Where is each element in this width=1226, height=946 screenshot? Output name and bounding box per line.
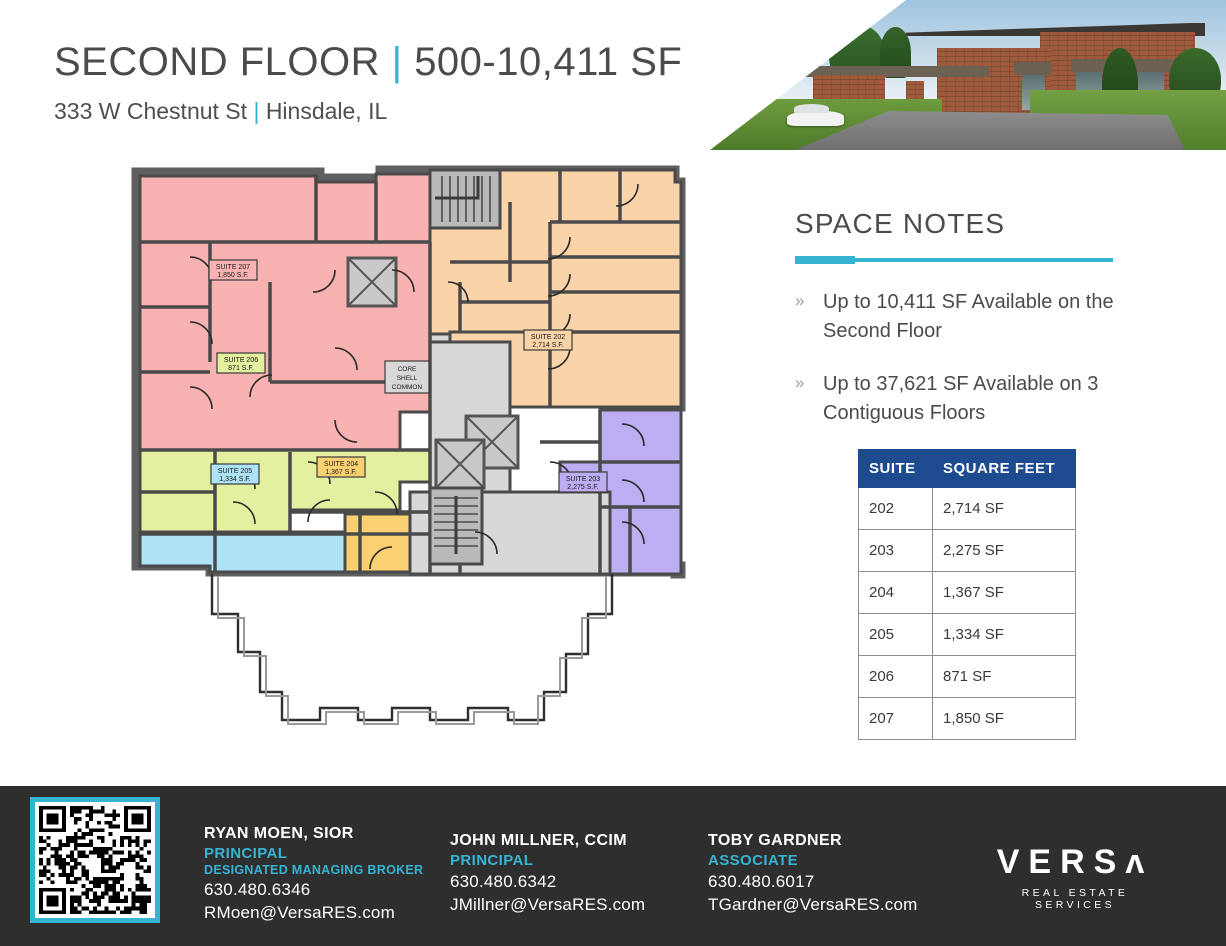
logo-tagline: REAL ESTATE SERVICES	[985, 887, 1165, 911]
contact-ryan-moen: RYAN MOEN, SIOR PRINCIPAL DESIGNATED MAN…	[204, 825, 423, 923]
space-note-text: Up to 37,621 SF Available on 3 Contiguou…	[823, 370, 1125, 428]
space-notes-section: SPACE NOTES » Up to 10,411 SF Available …	[795, 208, 1125, 428]
address-city-state: Hinsdale, IL	[266, 98, 387, 124]
space-notes-title: SPACE NOTES	[795, 208, 1125, 240]
floor-plan-drawing: SUITE 2071,850 S.F.SUITE 2022,714 S.F.SU…	[130, 162, 690, 742]
suite-label-area: 2,714 S.F.	[532, 342, 564, 349]
suite-label-name: SUITE 205	[218, 468, 252, 475]
cell-suite: 202	[859, 488, 933, 530]
suite-label-area: 2,275 S.F.	[567, 484, 599, 491]
cell-suite: 204	[859, 572, 933, 614]
title-floor: SECOND FLOOR	[54, 40, 380, 84]
space-note-item: » Up to 37,621 SF Available on 3 Contigu…	[795, 370, 1125, 428]
contact-email[interactable]: TGardner@VersaRES.com	[708, 895, 917, 915]
address-divider: |	[253, 98, 259, 124]
contact-role: PRINCIPAL	[204, 845, 423, 862]
stairwell-lower	[430, 488, 482, 564]
core-label-line: SHELL	[397, 375, 418, 382]
contact-name: TOBY GARDNER	[708, 832, 917, 850]
qr-code-image	[39, 806, 151, 914]
lower-floor-outline	[212, 574, 612, 724]
suite-table: SUITE SQUARE FEET 2022,714 SF2032,275 SF…	[858, 449, 1076, 740]
contact-phone[interactable]: 630.480.6342	[450, 872, 645, 892]
cell-square-feet: 871 SF	[933, 656, 1076, 698]
qr-code[interactable]	[30, 797, 160, 923]
header-block: SECOND FLOOR | 500-10,411 SF 333 W Chest…	[54, 40, 682, 125]
contact-role: ASSOCIATE	[708, 852, 917, 869]
suite-label-name: SUITE 203	[566, 476, 600, 483]
versa-logo: VERSʌ REAL ESTATE SERVICES	[985, 845, 1165, 911]
suite-label-name: SUITE 204	[324, 461, 358, 468]
stairwell-upper	[430, 170, 500, 228]
suite-label-area: 871 S.F.	[228, 365, 254, 372]
suite-table-body: 2022,714 SF2032,275 SF2041,367 SF2051,33…	[859, 488, 1076, 740]
suite-label-area: 1,850 S.F.	[217, 272, 249, 279]
contact-john-millner: JOHN MILLNER, CCIM PRINCIPAL 630.480.634…	[450, 832, 645, 915]
suite-label-name: SUITE 206	[224, 357, 258, 364]
suite-label-name: SUITE 202	[531, 334, 565, 341]
window-awning	[1014, 62, 1050, 76]
cell-suite: 205	[859, 614, 933, 656]
building-photo	[710, 0, 1226, 150]
table-row: 2022,714 SF	[859, 488, 1076, 530]
contact-role: PRINCIPAL	[450, 852, 645, 869]
column-header-suite: SUITE	[859, 450, 933, 488]
space-note-item: » Up to 10,411 SF Available on the Secon…	[795, 288, 1125, 346]
bullet-glyph: »	[795, 370, 823, 428]
suite-label-area: 1,334 S.F.	[219, 476, 251, 483]
cell-square-feet: 2,275 SF	[933, 530, 1076, 572]
cell-square-feet: 1,850 SF	[933, 698, 1076, 740]
table-row: 206871 SF	[859, 656, 1076, 698]
core-label-line: COMMON	[392, 384, 423, 391]
accent-rule	[795, 256, 1113, 264]
cell-suite: 206	[859, 656, 933, 698]
contact-phone[interactable]: 630.480.6346	[204, 880, 423, 900]
contact-role-secondary: DESIGNATED MANAGING BROKER	[204, 863, 423, 877]
table-row: 2071,850 SF	[859, 698, 1076, 740]
floor-plan-flyer: SECOND FLOOR | 500-10,411 SF 333 W Chest…	[0, 0, 1226, 946]
contact-name: RYAN MOEN, SIOR	[204, 825, 423, 843]
address-line: 333 W Chestnut St | Hinsdale, IL	[54, 98, 682, 125]
table-row: 2041,367 SF	[859, 572, 1076, 614]
floor-plan-svg: SUITE 2071,850 S.F.SUITE 2022,714 S.F.SU…	[130, 162, 690, 742]
cell-square-feet: 1,334 SF	[933, 614, 1076, 656]
core-label-line: CORE	[398, 366, 417, 373]
table-row: 2051,334 SF	[859, 614, 1076, 656]
address-street: 333 W Chestnut St	[54, 98, 247, 124]
title-divider: |	[392, 40, 403, 84]
table-header-row: SUITE SQUARE FEET	[859, 450, 1076, 488]
suite-table-head: SUITE SQUARE FEET	[859, 450, 1076, 488]
car	[787, 111, 844, 126]
table-row: 2032,275 SF	[859, 530, 1076, 572]
contact-toby-gardner: TOBY GARDNER ASSOCIATE 630.480.6017 TGar…	[708, 832, 917, 915]
cell-square-feet: 1,367 SF	[933, 572, 1076, 614]
core-shell-common-label: CORESHELLCOMMON	[385, 361, 429, 393]
space-note-text: Up to 10,411 SF Available on the Second …	[823, 288, 1125, 346]
logo-wordmark: VERSʌ	[985, 845, 1165, 879]
page-title: SECOND FLOOR | 500-10,411 SF	[54, 40, 682, 84]
contact-name: JOHN MILLNER, CCIM	[450, 832, 645, 850]
contact-phone[interactable]: 630.480.6017	[708, 872, 917, 892]
cell-square-feet: 2,714 SF	[933, 488, 1076, 530]
cell-suite: 203	[859, 530, 933, 572]
contact-email[interactable]: RMoen@VersaRES.com	[204, 903, 423, 923]
suite-label-name: SUITE 207	[216, 264, 250, 271]
cell-suite: 207	[859, 698, 933, 740]
suite-label-area: 1,367 S.F.	[325, 469, 357, 476]
accent-rule-thick	[795, 256, 855, 264]
title-sf-range: 500-10,411 SF	[414, 40, 682, 84]
contact-email[interactable]: JMillner@VersaRES.com	[450, 895, 645, 915]
bullet-glyph: »	[795, 288, 823, 346]
column-header-square-feet: SQUARE FEET	[933, 450, 1076, 488]
